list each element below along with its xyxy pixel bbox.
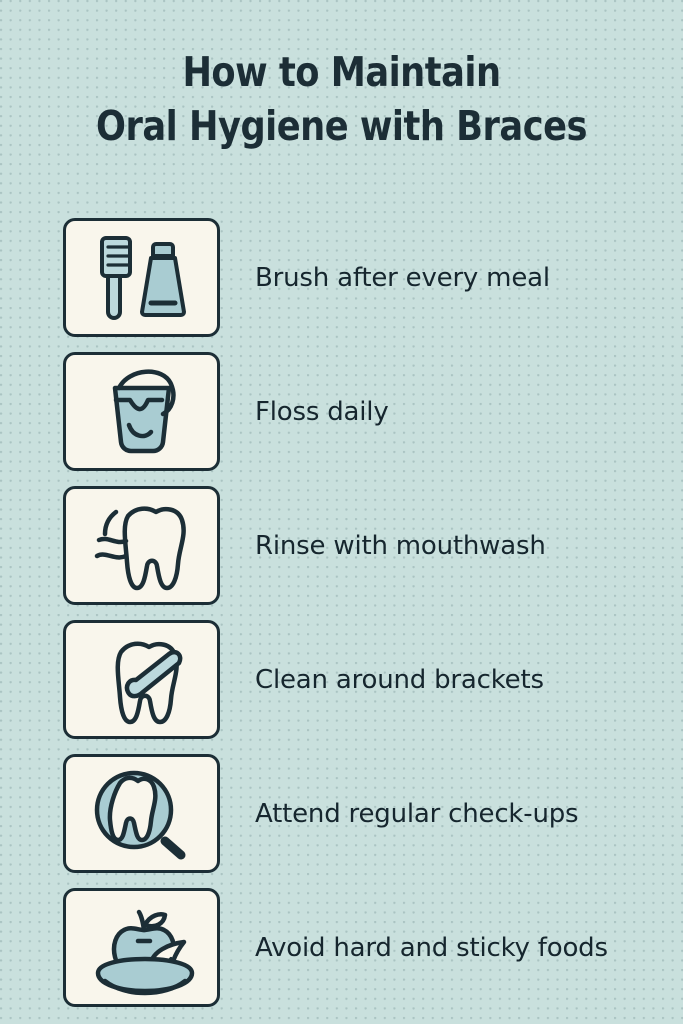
step-icon-card bbox=[63, 486, 220, 605]
title-line-1: How to Maintain bbox=[48, 52, 635, 93]
step-icon-card bbox=[63, 218, 220, 337]
magnifying-glass-tooth-icon bbox=[77, 762, 207, 866]
step-label: Rinse with mouthwash bbox=[255, 531, 546, 561]
step-label: Attend regular check-ups bbox=[255, 799, 578, 829]
list-item: Attend regular check-ups bbox=[0, 754, 683, 873]
toothbrush-and-toothpaste-icon bbox=[72, 226, 212, 330]
step-icon-card-row: Clean around brackets bbox=[0, 620, 683, 739]
step-label: Clean around brackets bbox=[255, 665, 544, 695]
step-icon-card bbox=[63, 888, 220, 1007]
infographic-poster: How to Maintain Oral Hygiene with Braces bbox=[0, 0, 683, 1024]
list-item: Floss daily bbox=[0, 352, 683, 471]
step-label: Floss daily bbox=[255, 397, 389, 427]
steps-list: Brush after every meal Floss daily bbox=[0, 218, 683, 1022]
tooth-with-interdental-brush-icon bbox=[77, 630, 207, 730]
list-item: Brush after every meal bbox=[0, 218, 683, 337]
list-item: Avoid hard and sticky foods bbox=[0, 888, 683, 1007]
step-icon-card bbox=[63, 620, 220, 739]
dental-floss-container-icon bbox=[77, 362, 207, 462]
step-icon-card bbox=[63, 352, 220, 471]
step-label: Brush after every meal bbox=[255, 263, 550, 293]
page-title: How to Maintain Oral Hygiene with Braces bbox=[0, 52, 683, 147]
tooth-with-rinse-waves-icon bbox=[72, 496, 212, 596]
step-label: Avoid hard and sticky foods bbox=[255, 933, 608, 963]
title-line-2: Oral Hygiene with Braces bbox=[48, 106, 635, 147]
apple-on-plate-icon bbox=[72, 897, 212, 999]
step-icon-card bbox=[63, 754, 220, 873]
list-item: Rinse with mouthwash bbox=[0, 486, 683, 605]
